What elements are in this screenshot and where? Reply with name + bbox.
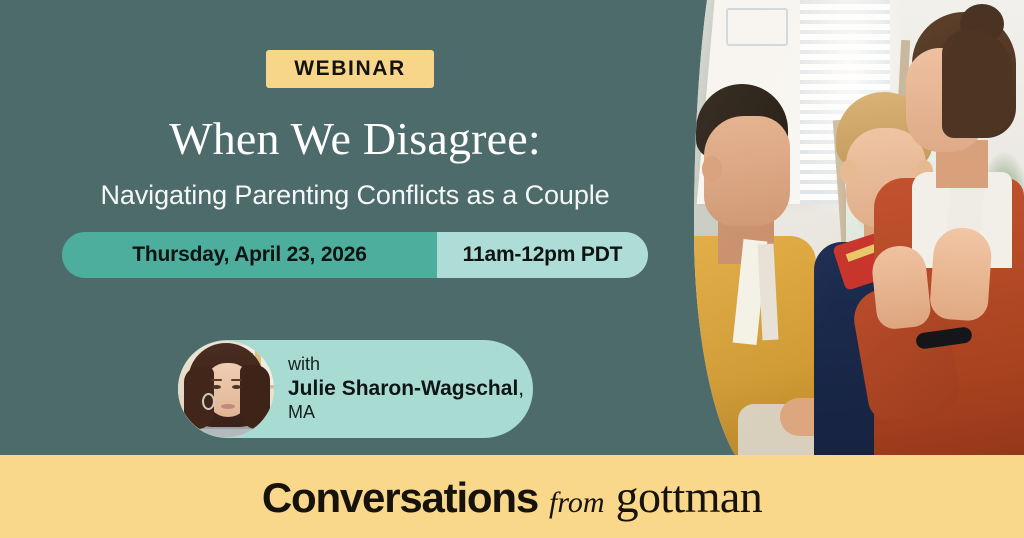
footer-brand-band: Conversations from gottman bbox=[0, 455, 1024, 538]
photo-warm-overlay bbox=[660, 0, 1024, 458]
page-title: When We Disagree: bbox=[0, 114, 710, 164]
avatar-lips bbox=[221, 404, 235, 409]
avatar-hair-strand bbox=[240, 365, 270, 429]
webinar-badge-label: WEBINAR bbox=[294, 57, 406, 81]
avatar bbox=[178, 341, 274, 437]
speaker-prefix: with bbox=[288, 354, 524, 376]
speaker-name-comma: , bbox=[518, 377, 524, 400]
brand-primary: Conversations bbox=[262, 474, 538, 522]
speaker-details: with Julie Sharon-Wagschal, MA bbox=[288, 354, 524, 424]
brand-secondary: gottman bbox=[616, 470, 763, 523]
speaker-name: Julie Sharon-Wagschal, bbox=[288, 376, 524, 402]
photo-curved-clip bbox=[660, 0, 1024, 458]
brand-lockup: Conversations from gottman bbox=[262, 470, 762, 523]
avatar-hoop-earring bbox=[202, 393, 215, 410]
schedule-date-segment: Thursday, April 23, 2026 bbox=[62, 232, 437, 278]
schedule-pill: Thursday, April 23, 2026 11am-12pm PDT bbox=[62, 232, 648, 278]
webinar-promo-graphic: WEBINAR When We Disagree: Navigating Par… bbox=[0, 0, 1024, 538]
page-subtitle: Navigating Parenting Conflicts as a Coup… bbox=[0, 180, 710, 211]
avatar-eye bbox=[232, 385, 241, 389]
brand-connector: from bbox=[549, 486, 605, 520]
family-photo-panel bbox=[660, 0, 1024, 458]
avatar-eye bbox=[212, 385, 221, 389]
schedule-date-label: Thursday, April 23, 2026 bbox=[132, 243, 366, 267]
avatar-eyebrow bbox=[211, 379, 222, 381]
schedule-time-label: 11am-12pm PDT bbox=[463, 243, 623, 267]
schedule-time-segment: 11am-12pm PDT bbox=[437, 232, 648, 278]
avatar-sweater bbox=[182, 429, 274, 437]
avatar-eyebrow bbox=[231, 379, 242, 381]
speaker-name-text: Julie Sharon-Wagschal bbox=[288, 377, 518, 400]
speaker-credentials: MA bbox=[288, 402, 524, 424]
webinar-badge: WEBINAR bbox=[266, 50, 434, 88]
